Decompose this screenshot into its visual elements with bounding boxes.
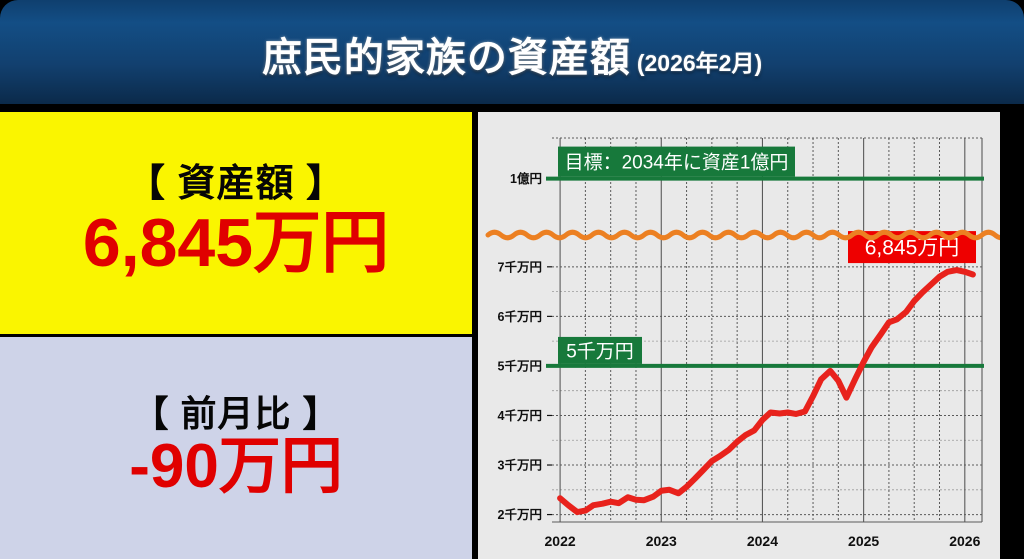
delta-panel: 【 前月比 】 -90万円 [0,337,472,559]
y-axis-tick-label: 5千万円 [498,358,542,373]
x-axis-tick-label: 2022 [545,533,576,549]
y-axis-tick-label: 4千万円 [498,408,542,423]
header-inner: 庶民的家族の資産額 (2026年2月) [262,25,762,83]
asset-panel: 【 資産額 】 6,845万円 [0,112,472,334]
y-axis-tick-label: 7千万円 [498,259,542,274]
chart-panel: 2千万円3千万円4千万円5千万円6千万円7千万円1億円目標：2034年に資産1億… [478,112,1000,559]
mid-badge-label: 5千万円 [566,340,634,362]
header-banner: 庶民的家族の資産額 (2026年2月) [0,0,1024,104]
asset-panel-value: 6,845万円 [83,207,389,280]
x-axis-tick-label: 2024 [747,533,778,549]
app-root: 庶民的家族の資産額 (2026年2月) 【 資産額 】 6,845万円 【 前月… [0,0,1024,559]
x-axis-tick-label: 2023 [646,533,677,549]
asset-panel-label: 【 資産額 】 [127,165,345,205]
y-axis-tick-label: 3千万円 [498,458,542,473]
target-badge-label: 目標：2034年に資産1億円 [565,152,789,174]
page-subtitle: (2026年2月) [637,44,762,78]
page-title: 庶民的家族の資産額 [262,25,631,83]
y-axis-tick-label: 2千万円 [498,507,542,522]
delta-panel-label: 【 前月比 】 [132,395,339,433]
delta-panel-value: -90万円 [129,434,343,501]
plot-background [552,138,982,522]
x-axis-tick-label: 2026 [949,533,980,549]
y-axis-tick-label: 6千万円 [498,309,542,324]
asset-history-line-chart: 2千万円3千万円4千万円5千万円6千万円7千万円1億円目標：2034年に資産1億… [478,112,1000,559]
x-axis-tick-label: 2025 [848,533,879,549]
current-value-badge-label: 6,845万円 [865,237,960,260]
y-axis-tick-label: 1億円 [510,171,542,186]
